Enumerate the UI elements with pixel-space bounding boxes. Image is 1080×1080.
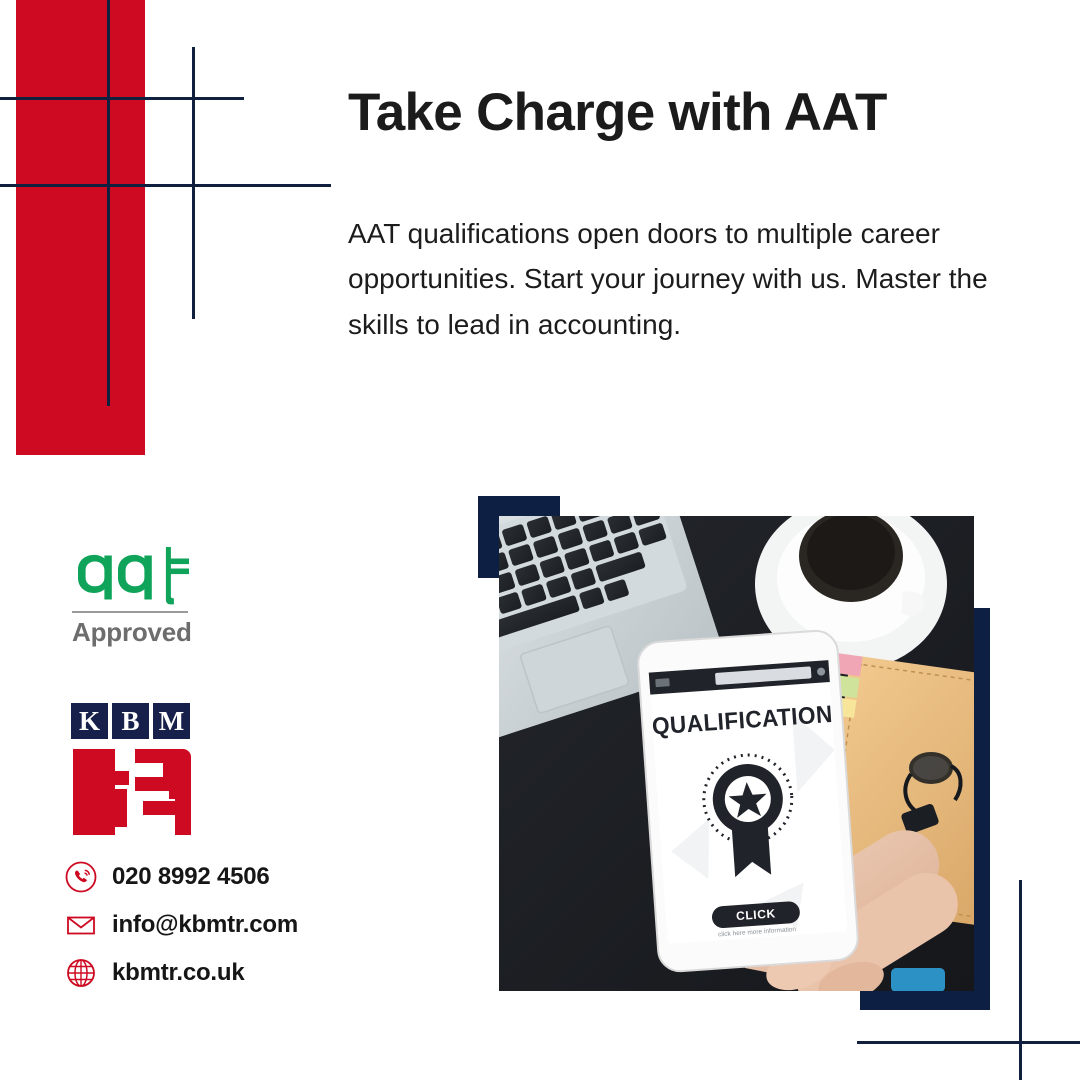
contact-details: 020 8992 4506 info@kbmtr.com [64, 853, 298, 997]
aat-wordmark-icon [72, 543, 190, 605]
social-media-post: Take Charge with AAT AAT qualifications … [0, 0, 1080, 1080]
contact-row-email[interactable]: info@kbmtr.com [64, 901, 298, 949]
aat-divider [72, 611, 188, 613]
aat-approved-logo: Approved [72, 543, 190, 645]
decorative-red-block [16, 0, 145, 455]
desk-photo-illustration: QUALIFICATION CLICK click here more info… [499, 516, 974, 991]
decorative-line-horizontal-1 [0, 97, 244, 100]
svg-text:CLICK: CLICK [736, 906, 777, 923]
kbm-square-k: K [71, 703, 108, 739]
hero-image-composition: QUALIFICATION CLICK click here more info… [460, 480, 1020, 1060]
kbm-emblem-icon [71, 743, 193, 835]
aat-approved-label: Approved [72, 619, 190, 645]
kbm-letter-squares: K B M [71, 703, 196, 739]
decorative-line-vertical-2 [192, 47, 195, 319]
kbm-square-b: B [112, 703, 149, 739]
decorative-line-vertical-1 [107, 0, 110, 406]
decorative-line-horizontal-2 [0, 184, 331, 187]
body-copy: AAT qualifications open doors to multipl… [348, 211, 1016, 347]
kbm-logo: K B M [71, 703, 196, 835]
email-address: info@kbmtr.com [112, 911, 298, 939]
phone-number: 020 8992 4506 [112, 863, 270, 891]
contact-row-phone[interactable]: 020 8992 4506 [64, 853, 298, 901]
contact-row-website[interactable]: kbmtr.co.uk [64, 949, 298, 997]
phone-icon [64, 860, 98, 894]
desk-photo: QUALIFICATION CLICK click here more info… [499, 516, 974, 991]
kbm-square-m: M [153, 703, 190, 739]
globe-icon [64, 956, 98, 990]
page-title: Take Charge with AAT [348, 83, 1008, 142]
website-url: kbmtr.co.uk [112, 959, 245, 987]
email-icon [64, 908, 98, 942]
